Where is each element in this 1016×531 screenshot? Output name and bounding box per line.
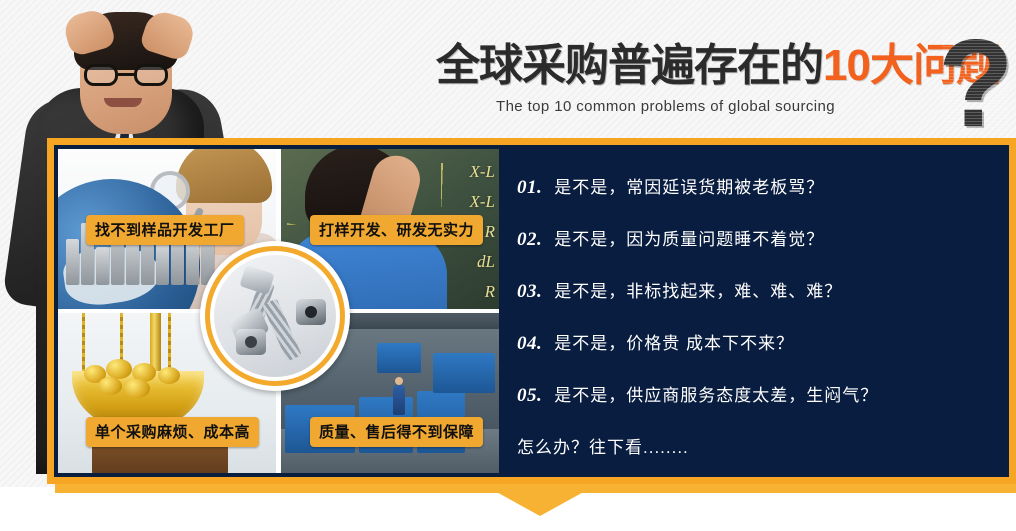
- problem-item: 01. 是不是，常因延误货期被老板骂？: [517, 173, 1005, 199]
- glasses-icon: [84, 64, 170, 86]
- mouth: [104, 98, 142, 107]
- bolts-photo: [214, 255, 336, 377]
- problem-text: 是不是，因为质量问题睡不着觉？: [554, 225, 824, 250]
- nut-2: [236, 329, 266, 355]
- collage-label-4: 质量、售后得不到保障: [310, 417, 483, 447]
- collage-label-2: 打样开发、研发无实力: [310, 215, 483, 245]
- content-frame: X-LX-LRdLR: [47, 138, 1016, 484]
- collage-label-3: 单个采购麻烦、成本高: [86, 417, 259, 447]
- content-frame-inner: X-LX-LRdLR: [54, 145, 1009, 477]
- panel-footer-note: 怎么办？往下看........: [517, 433, 1005, 458]
- page-title: 全球采购普遍存在的10大问题: [436, 38, 999, 94]
- image-collage: X-LX-LRdLR: [58, 149, 499, 473]
- problem-text: 是不是，价格贵 成本下不来？: [554, 329, 794, 354]
- woman-hair: [176, 149, 272, 203]
- nut-1: [296, 299, 326, 325]
- problem-item: 03. 是不是，非标找起来，难、难、难？: [517, 277, 1005, 303]
- title-dark-part: 全球采购普遍存在的: [436, 41, 823, 90]
- collage-label-1: 找不到样品开发工厂: [86, 215, 244, 245]
- circle-orange-ring: [205, 246, 345, 386]
- problem-text: 是不是，常因延误货期被老板骂？: [554, 173, 824, 198]
- center-bolts-circle: [200, 241, 350, 391]
- problem-item: 05. 是不是，供应商服务态度太差，生闷气？: [517, 381, 1005, 407]
- factory-worker: [393, 385, 405, 415]
- page-subtitle: The top 10 common problems of global sou…: [496, 98, 835, 115]
- problem-number: 04.: [517, 333, 542, 355]
- problem-list-panel: 01. 是不是，常因延误货期被老板骂？ 02. 是不是，因为质量问题睡不着觉？ …: [499, 149, 1005, 473]
- problem-number: 05.: [517, 385, 542, 407]
- problem-text: 是不是，非标找起来，难、难、难？: [554, 277, 842, 302]
- header-banner: 全球采购普遍存在的10大问题 The top 10 common problem…: [430, 38, 1016, 138]
- problem-number: 03.: [517, 281, 542, 303]
- banner-page: 全球采购普遍存在的10大问题 The top 10 common problem…: [0, 0, 1016, 531]
- problem-number: 02.: [517, 229, 542, 251]
- question-mark-icon: ?: [938, 22, 1014, 146]
- bottom-arrow-tip-icon: [482, 484, 598, 516]
- problem-text: 是不是，供应商服务态度太差，生闷气？: [554, 381, 878, 406]
- problem-number: 01.: [517, 177, 542, 199]
- problem-item: 02. 是不是，因为质量问题睡不着觉？: [517, 225, 1005, 251]
- problem-item: 04. 是不是，价格贵 成本下不来？: [517, 329, 1005, 355]
